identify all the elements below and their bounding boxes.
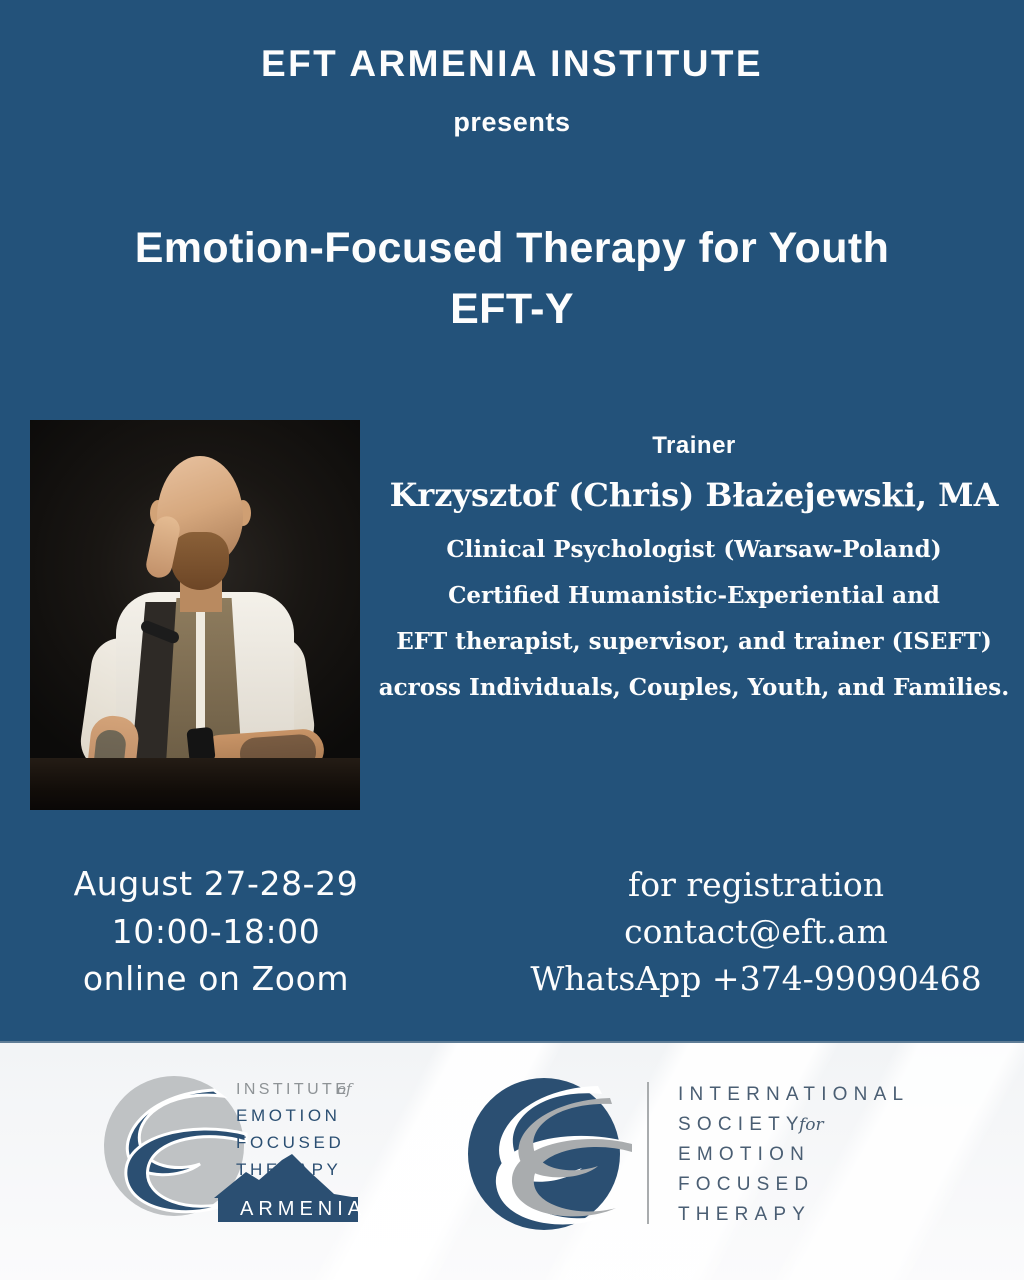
trainer-credential-3: EFT therapist, supervisor, and trainer (… [372, 630, 1016, 653]
photo-beard [171, 532, 229, 590]
trainer-label: Trainer [372, 432, 1016, 460]
trainer-photo [30, 420, 360, 810]
armenia-logo-of-italic: of [337, 1080, 354, 1098]
armenia-logo-banner-text: ARMENIA [240, 1198, 366, 1220]
trainer-name: Krzysztof (Chris) Błażejewski, MA [372, 476, 1016, 514]
armenia-logo-line-emotion: EMOTION [236, 1106, 341, 1125]
logo-iseft: INTERNATIONAL SOCIETY for EMOTION FOCUSE… [462, 1068, 932, 1248]
trainer-details: Trainer Krzysztof (Chris) Błażejewski, M… [372, 432, 1024, 699]
registration-email[interactable]: contact@eft.am [506, 909, 1006, 956]
iseft-logo-for-italic: for [797, 1115, 825, 1135]
iseft-logo-line-therapy: THERAPY [678, 1204, 811, 1225]
iseft-logo-line-focused: FOCUSED [678, 1174, 814, 1195]
photo-table [30, 758, 360, 810]
event-title-line-1: Emotion-Focused Therapy for Youth [34, 218, 990, 279]
trainer-credential-2: Certified Humanistic-Experiential and [372, 584, 1016, 607]
schedule-format: online on Zoom [26, 955, 406, 1003]
schedule-dates: August 27-28-29 [26, 860, 406, 908]
presents-label: presents [0, 107, 1024, 138]
schedule-block: August 27-28-29 10:00-18:00 online on Zo… [26, 860, 406, 1003]
schedule-time: 10:00-18:00 [26, 908, 406, 956]
registration-heading: for registration [506, 862, 1006, 909]
trainer-credential-1: Clinical Psychologist (Warsaw-Poland) [372, 538, 1016, 561]
armenia-logo-line-institute: INSTITUTE [236, 1081, 349, 1098]
poster-header: EFT ARMENIA INSTITUTE presents [0, 0, 1024, 138]
logo-eft-armenia: INSTITUTE of EMOTION FOCUSED THERAPY ARM… [96, 1068, 396, 1236]
iseft-logo-line-society: SOCIETY [678, 1114, 805, 1135]
registration-block: for registration contact@eft.am WhatsApp… [506, 862, 1006, 1003]
organization-name: EFT ARMENIA INSTITUTE [0, 44, 1024, 85]
iseft-logo-line-emotion: EMOTION [678, 1144, 810, 1165]
poster-root: EFT ARMENIA INSTITUTE presents Emotion-F… [0, 0, 1024, 1280]
armenia-logo-line-focused: FOCUSED [236, 1133, 344, 1152]
iseft-logo-line-international: INTERNATIONAL [678, 1084, 909, 1105]
trainer-credential-4: across Individuals, Couples, Youth, and … [372, 676, 1016, 699]
event-title: Emotion-Focused Therapy for Youth EFT-Y [0, 218, 1024, 340]
event-title-line-2: EFT-Y [34, 279, 990, 340]
registration-whatsapp[interactable]: WhatsApp +374-99090468 [506, 956, 1006, 1003]
